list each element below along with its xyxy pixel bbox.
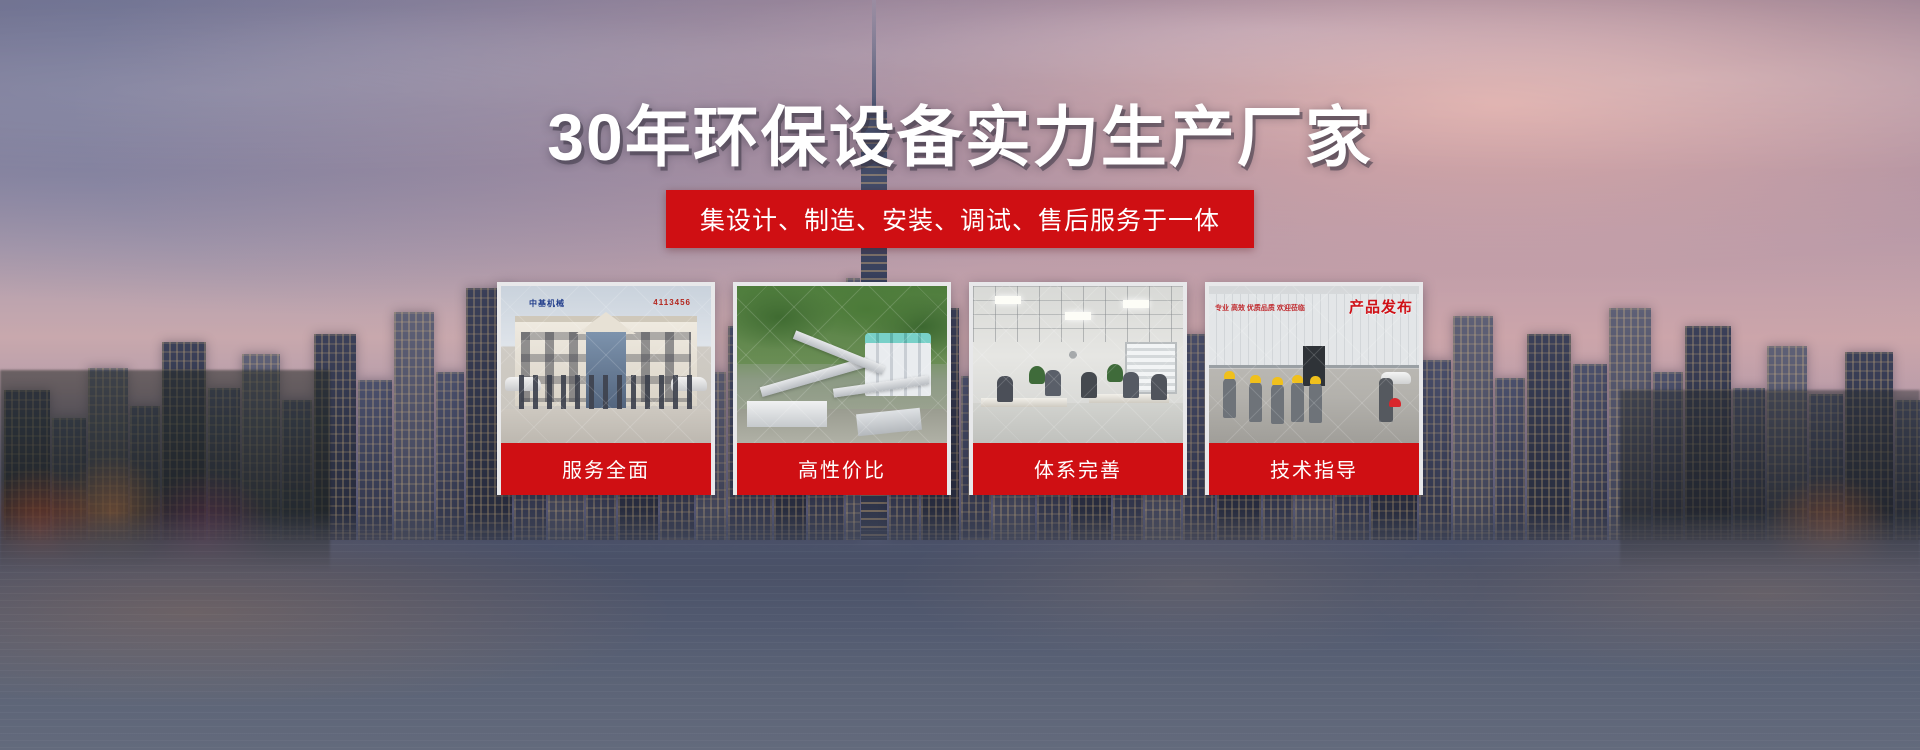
feature-card-guidance[interactable]: 产品发布 专业 高效 优质品质 欢迎莅临 技术指导 — [1205, 282, 1423, 495]
card-photo-office-building: 中基机械 4113456 — [501, 286, 711, 443]
subtitle-container: 集设计、制造、安装、调试、售后服务于一体 — [0, 190, 1920, 248]
card-label-guidance: 技术指导 — [1209, 443, 1419, 495]
feature-card-service[interactable]: 中基机械 4113456 服务全面 — [497, 282, 715, 495]
factory-slogan-text: 专业 高效 优质品质 欢迎莅临 — [1215, 304, 1305, 315]
feature-card-value[interactable]: 高性价比 — [733, 282, 951, 495]
factory-sign-text: 产品发布 — [1349, 296, 1413, 317]
card-photo-office-interior — [973, 286, 1183, 443]
subtitle-badge: 集设计、制造、安装、调试、售后服务于一体 — [666, 190, 1254, 248]
water-ripples — [0, 530, 1920, 750]
card-photo-aerial-plant — [737, 286, 947, 443]
feature-card-list: 中基机械 4113456 服务全面 高性价比 — [0, 282, 1920, 495]
card-photo-factory-workers: 产品发布 专业 高效 优质品质 欢迎莅临 — [1209, 286, 1419, 443]
feature-card-system[interactable]: 体系完善 — [969, 282, 1187, 495]
building-phone-text: 4113456 — [653, 298, 691, 307]
building-sign-text: 中基机械 — [529, 298, 565, 309]
card-label-system: 体系完善 — [973, 443, 1183, 495]
hero-banner: 30年环保设备实力生产厂家 集设计、制造、安装、调试、售后服务于一体 中基机械 … — [0, 0, 1920, 750]
card-label-value: 高性价比 — [737, 443, 947, 495]
card-label-service: 服务全面 — [501, 443, 711, 495]
page-title: 30年环保设备实力生产厂家 — [0, 104, 1920, 170]
